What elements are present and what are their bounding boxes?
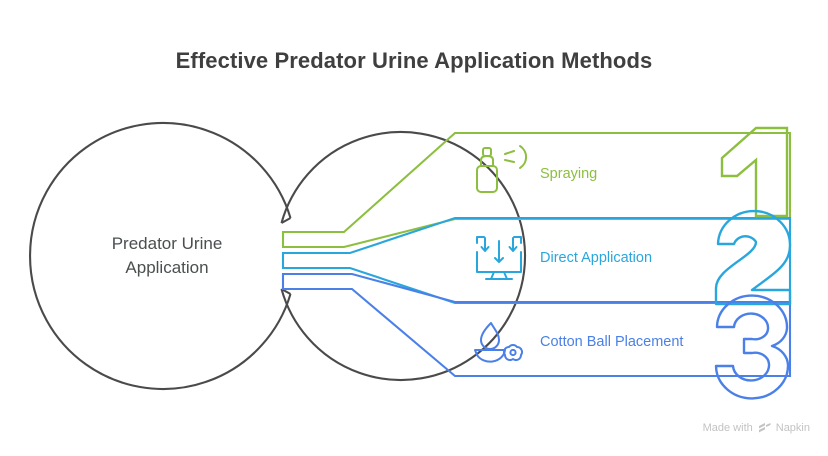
diagram-canvas: Effective Predator Urine Application Met…	[0, 0, 828, 456]
watermark-prefix: Made with	[703, 422, 753, 434]
hub-label-line-1: Predator Urine	[52, 232, 282, 256]
watermark-brand: Napkin	[776, 422, 810, 434]
row-label-cotton-ball-placement: Cotton Ball Placement	[540, 334, 683, 350]
ribbon-1-outline	[283, 133, 790, 247]
watermark: Made with Napkin	[703, 422, 810, 434]
hub-label: Predator Urine Application	[52, 232, 282, 280]
row-3-numeral	[716, 296, 788, 399]
process-diagram	[0, 0, 828, 456]
ribbon-3-outline	[283, 274, 790, 376]
oil-lamp-flower-icon	[475, 323, 522, 362]
connector-ribbon-2	[283, 218, 790, 303]
row-1-numeral	[722, 128, 787, 216]
monitor-download-icon	[477, 237, 521, 279]
ribbon-2-outline	[283, 218, 790, 303]
connector-ribbon-3	[283, 274, 790, 376]
napkin-chevrons-icon	[758, 423, 771, 434]
connector-ribbon-1	[283, 133, 790, 247]
row-label-direct-application: Direct Application	[540, 250, 652, 266]
row-label-spraying: Spraying	[540, 166, 597, 182]
hub-label-line-2: Application	[52, 256, 282, 280]
hub-inner-ring	[282, 132, 526, 380]
row-2-numeral	[716, 211, 790, 304]
